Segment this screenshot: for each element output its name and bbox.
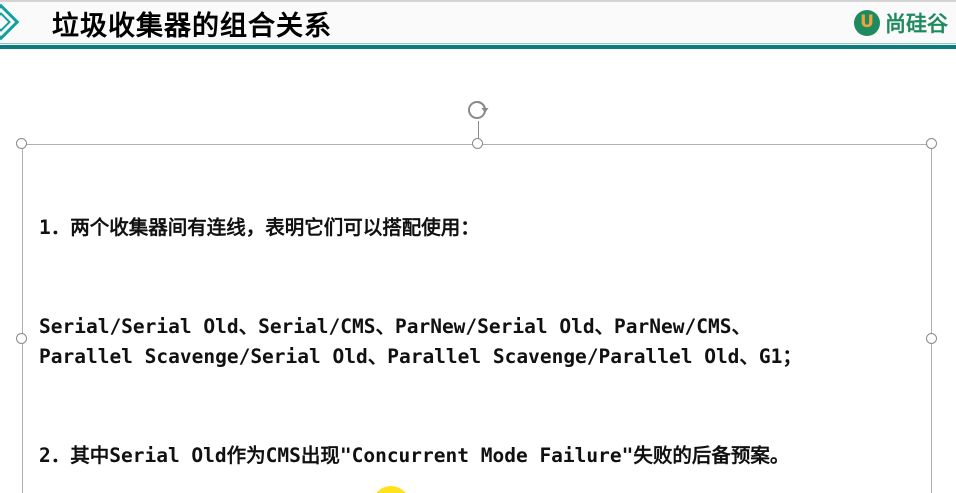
paragraph-2: Serial/Serial Old、Serial/CMS、ParNew/Seri…	[39, 312, 921, 372]
content-textbox[interactable]: 1．两个收集器间有连线，表明它们可以搭配使用： Serial/Serial Ol…	[22, 144, 932, 493]
slide-body: 1．两个收集器间有连线，表明它们可以搭配使用： Serial/Serial Ol…	[0, 49, 956, 493]
paragraph-3: 2．其中Serial Old作为CMS出现"Concurrent Mode Fa…	[39, 441, 921, 471]
slide-header: 垃圾收集器的组合关系 U 尚硅谷	[0, 0, 956, 47]
handle-top-center[interactable]	[472, 138, 483, 149]
textbox-content[interactable]: 1．两个收集器间有连线，表明它们可以搭配使用： Serial/Serial Ol…	[39, 153, 921, 493]
slide-screen: 垃圾收集器的组合关系 U 尚硅谷 1．两个收集器间有连线，表明它们可以搭配使用：…	[0, 0, 956, 493]
brand-u-glyph: U	[860, 14, 874, 31]
handle-middle-right[interactable]	[926, 333, 937, 344]
diamond-icon	[0, 7, 16, 37]
brand-name: 尚硅谷	[885, 8, 948, 38]
handle-top-left[interactable]	[16, 138, 27, 149]
header-rule-light	[0, 43, 956, 44]
paragraph-1: 1．两个收集器间有连线，表明它们可以搭配使用：	[39, 213, 921, 243]
brand-logo: U 尚硅谷	[854, 8, 948, 38]
header-top-border	[0, 0, 956, 2]
rotate-handle-icon[interactable]	[466, 97, 490, 121]
brand-mark-icon: U	[854, 10, 880, 36]
page-title: 垃圾收集器的组合关系	[52, 4, 332, 43]
handle-top-right[interactable]	[926, 138, 937, 149]
handle-middle-left[interactable]	[16, 333, 27, 344]
